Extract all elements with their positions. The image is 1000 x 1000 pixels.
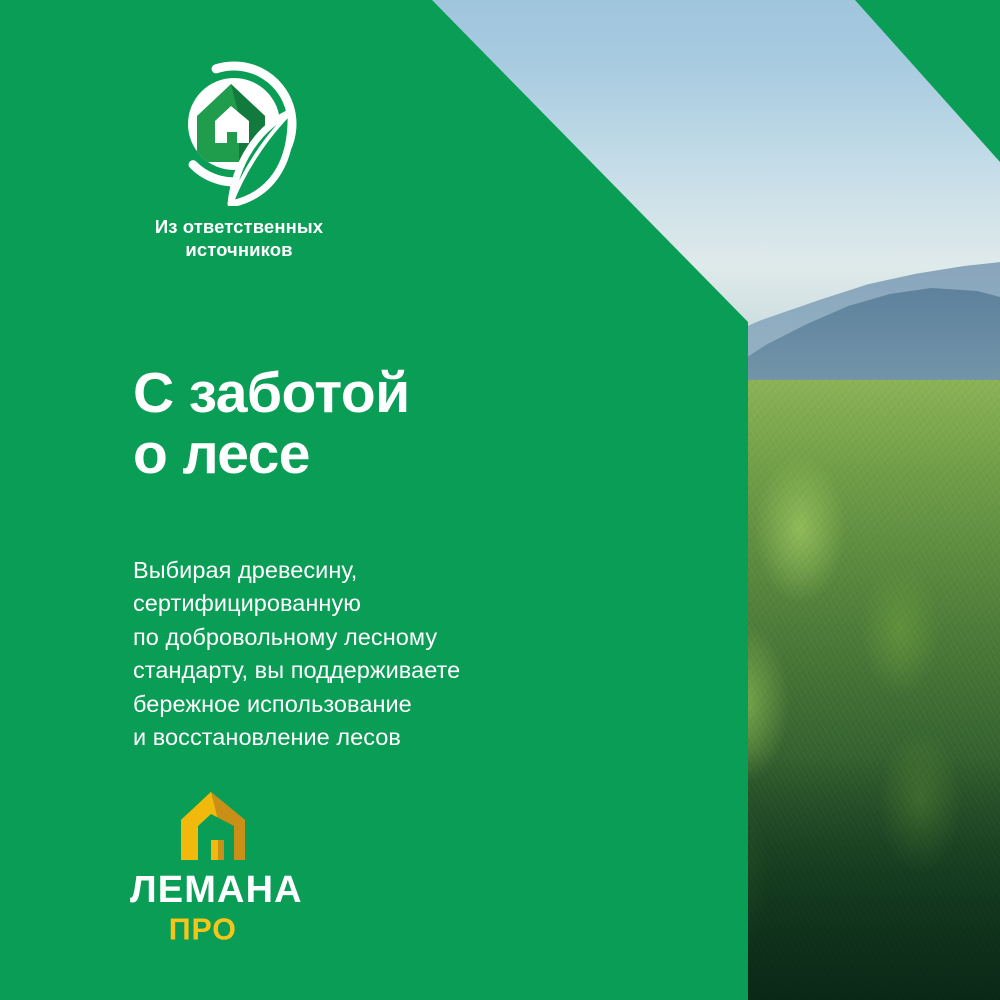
poster-content: Из ответственных источников С заботой о … [0, 0, 1000, 1000]
lemana-pro-logo: ЛЕМАНА ПРО [130, 790, 380, 946]
lemana-house-icon [178, 790, 248, 862]
lemana-wordmark: ЛЕМАНА [130, 868, 320, 911]
pro-wordmark-text: ПРО [169, 913, 237, 946]
page-title: С заботой о лесе [133, 363, 410, 484]
pro-wordmark: ПРО [130, 913, 320, 946]
poster-canvas: Из ответственных источников С заботой о … [0, 0, 1000, 1000]
responsible-sources-house-leaf-emblem-icon [165, 58, 313, 206]
lemana-wordmark-text: ЛЕМАНА [130, 869, 303, 910]
certification-badge: Из ответственных источников [133, 58, 433, 261]
body-paragraph: Выбирая древесину, сертифицированную по … [133, 554, 460, 756]
certification-badge-caption: Из ответственных источников [133, 216, 345, 261]
